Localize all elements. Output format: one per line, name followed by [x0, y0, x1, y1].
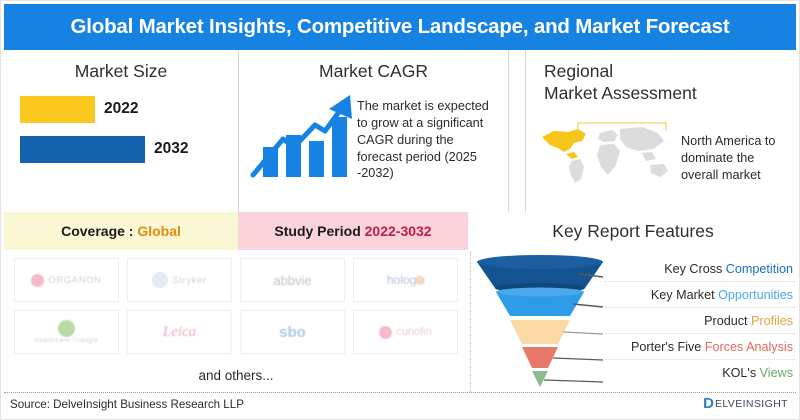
logo-cell-abbvie: abbvie	[240, 258, 345, 302]
hologic-logo: hologic	[387, 273, 424, 287]
logo-cell-hologic: hologic	[353, 258, 458, 302]
organon-logo: ORGANON	[31, 274, 101, 287]
logo-grid: ORGANON Stryker abbvie hologic	[4, 252, 468, 354]
study-period-value: 2022-3032	[365, 223, 432, 239]
page-title: Global Market Insights, Competitive Land…	[71, 15, 730, 39]
footer-source-text: Source: DelveInsight Business Research L…	[10, 398, 244, 411]
key-report-features-heading: Key Report Features	[552, 221, 713, 242]
infographic-root: Global Market Insights, Competitive Land…	[0, 0, 800, 420]
key-report-features-header: Key Report Features	[470, 212, 796, 250]
bar-2032	[20, 136, 145, 163]
delveinsight-logo: D ELVEINSIGHT	[703, 396, 788, 411]
world-map-icon	[538, 121, 678, 187]
organon-mark-icon	[31, 274, 44, 287]
feature-plain-forces-analysis: Porter's Five	[631, 340, 705, 354]
logo-cell-cunofin: cunofin	[353, 310, 458, 354]
sbo-logo: sbo	[279, 324, 306, 341]
feature-accent-profiles: Profiles	[751, 314, 793, 328]
feature-label-profiles: Product Profiles	[704, 314, 793, 328]
and-others-label: and others...	[4, 368, 468, 383]
regional-heading-line1: Regional	[526, 50, 796, 83]
bar-row-2032: 2032	[20, 136, 238, 163]
abbvie-logo: abbvie	[273, 273, 311, 288]
feature-plain-opportunities: Key Market	[651, 288, 718, 302]
key-features-funnel-area: Key Cross Competition Key Market Opportu…	[470, 252, 797, 392]
funnel-chart-icon	[475, 254, 605, 388]
leica-logo: Leica	[163, 324, 196, 341]
stryker-wordmark: Stryker	[172, 275, 206, 286]
sbo-wordmark: sbo	[279, 324, 306, 341]
market-size-heading: Market Size	[4, 50, 238, 83]
regional-callout: North America to dominate the overall ma…	[681, 133, 793, 184]
bar-2022	[20, 96, 95, 123]
panel-divider	[508, 50, 509, 212]
header-bar: Global Market Insights, Competitive Land…	[4, 4, 796, 50]
feature-label-kol-views: KOL's Views	[722, 366, 793, 380]
feature-row-forces-analysis: Porter's Five Forces Analysis	[605, 334, 795, 360]
feature-label-forces-analysis: Porter's Five Forces Analysis	[631, 340, 793, 354]
leica-wordmark: Leica	[163, 324, 196, 341]
healthcare-triangle-mark-icon	[58, 320, 75, 337]
bar-label-2032: 2032	[154, 140, 188, 158]
logo-cell-leica: Leica	[127, 310, 232, 354]
feature-label-opportunities: Key Market Opportunities	[651, 288, 793, 302]
stryker-logo: Stryker	[152, 272, 206, 288]
cunofin-mark-icon	[379, 326, 392, 339]
bar-row-2022: 2022	[20, 96, 238, 123]
feature-label-competition: Key Cross Competition	[664, 262, 793, 276]
market-cagr-body: The market is expected to grow at a sign…	[239, 83, 508, 182]
feature-row-profiles: Product Profiles	[605, 308, 795, 334]
study-period-band: Study Period 2022-3032	[238, 212, 468, 250]
regional-heading-line2: Market Assessment	[526, 83, 796, 105]
feature-plain-profiles: Product	[704, 314, 751, 328]
feature-accent-forces-analysis: Forces Analysis	[705, 340, 793, 354]
coverage-band: Coverage : Global	[4, 212, 238, 250]
top-panels-row: Market Size 2022 2032 Market CAGR	[4, 50, 796, 212]
key-features-list: Key Cross Competition Key Market Opportu…	[605, 256, 795, 386]
panel-market-cagr: Market CAGR The market is expected to gr…	[238, 50, 508, 212]
delveinsight-logo-text: ELVEINSIGHT	[715, 398, 788, 410]
panel-market-size: Market Size 2022 2032	[4, 50, 238, 212]
feature-accent-competition: Competition	[726, 262, 793, 276]
bar-label-2022: 2022	[104, 100, 138, 118]
regional-body: North America to dominate the overall ma…	[526, 105, 796, 203]
feature-accent-kol-views: Views	[760, 366, 793, 380]
study-period-text: Study Period 2022-3032	[274, 223, 431, 239]
footer-divider	[4, 392, 796, 393]
organon-wordmark: ORGANON	[48, 275, 101, 286]
market-cagr-description: The market is expected to grow at a sign…	[357, 89, 500, 182]
healthcare-triangle-wordmark: Healthcare Triangle	[35, 338, 98, 344]
abbvie-wordmark: abbvie	[273, 273, 311, 288]
panel-regional-assessment: Regional Market Assessment	[525, 50, 796, 212]
stryker-mark-icon	[152, 272, 168, 288]
cunofin-logo: cunofin	[379, 326, 431, 339]
coverage-label: Coverage :	[61, 223, 137, 239]
delveinsight-logo-initial: D	[703, 396, 714, 411]
coverage-value: Global	[137, 223, 181, 239]
logo-cell-stryker: Stryker	[127, 258, 232, 302]
market-size-bar-chart: 2022 2032	[4, 96, 238, 163]
logo-cell-organon: ORGANON	[14, 258, 119, 302]
feature-row-competition: Key Cross Competition	[605, 256, 795, 282]
coverage-text: Coverage : Global	[61, 223, 181, 239]
feature-accent-opportunities: Opportunities	[718, 288, 793, 302]
study-period-label: Study Period	[274, 223, 364, 239]
logo-cell-sbo: sbo	[240, 310, 345, 354]
healthcare-triangle-logo: Healthcare Triangle	[35, 320, 98, 344]
growth-bar-chart-arrow-icon	[249, 89, 357, 181]
logo-cell-healthcare-triangle: Healthcare Triangle	[14, 310, 119, 354]
hologic-mark-icon	[415, 276, 424, 285]
cunofin-wordmark: cunofin	[396, 326, 431, 338]
company-logos-area: ORGANON Stryker abbvie hologic	[4, 252, 468, 392]
feature-plain-competition: Key Cross	[664, 262, 726, 276]
feature-row-kol-views: KOL's Views	[605, 360, 795, 386]
feature-plain-kol-views: KOL's	[722, 366, 759, 380]
market-cagr-heading: Market CAGR	[239, 50, 508, 83]
feature-row-opportunities: Key Market Opportunities	[605, 282, 795, 308]
